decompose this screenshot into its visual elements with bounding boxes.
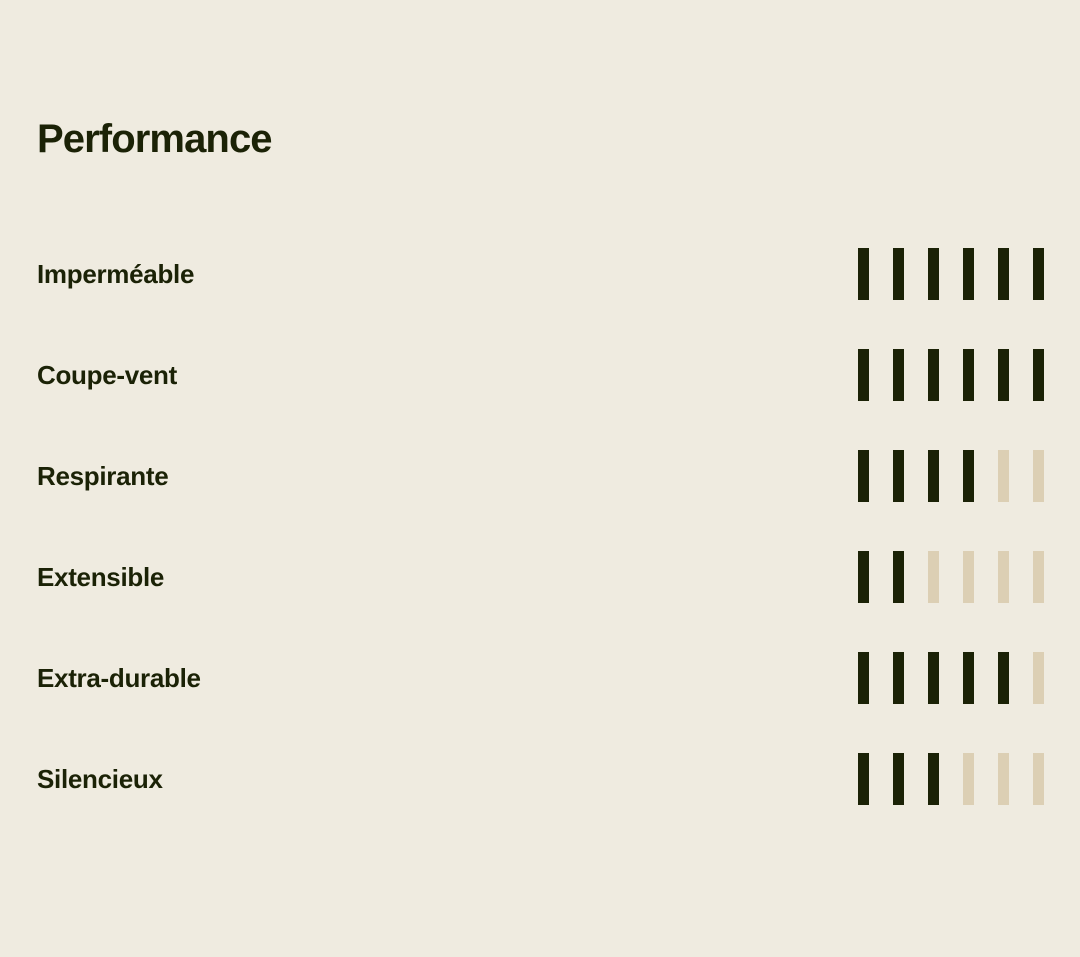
rating-bar-filled xyxy=(928,753,939,805)
rating-bar-filled xyxy=(1033,248,1044,300)
attribute-row: Silencieux xyxy=(37,752,1044,806)
attribute-label: Extra-durable xyxy=(37,665,201,691)
rating-bar-filled xyxy=(893,652,904,704)
attribute-row: Respirante xyxy=(37,449,1044,503)
rating-meter xyxy=(858,449,1044,503)
attribute-label: Coupe-vent xyxy=(37,362,177,388)
attribute-label: Extensible xyxy=(37,564,164,590)
rating-bar-filled xyxy=(858,349,869,401)
rating-bar-filled xyxy=(998,248,1009,300)
attribute-label: Imperméable xyxy=(37,261,194,287)
attribute-row: Extensible xyxy=(37,550,1044,604)
rating-bar-empty xyxy=(963,551,974,603)
rating-meter xyxy=(858,550,1044,604)
attribute-label: Respirante xyxy=(37,463,168,489)
performance-panel: Performance ImperméableCoupe-ventRespira… xyxy=(0,0,1080,957)
rating-bar-filled xyxy=(858,450,869,502)
rating-bar-empty xyxy=(998,753,1009,805)
rating-bar-filled xyxy=(928,349,939,401)
rating-meter xyxy=(858,752,1044,806)
rating-bar-empty xyxy=(1033,450,1044,502)
rating-meter xyxy=(858,348,1044,402)
rating-bar-filled xyxy=(893,349,904,401)
rating-bar-filled xyxy=(858,248,869,300)
attribute-row: Extra-durable xyxy=(37,651,1044,705)
rating-bar-filled xyxy=(858,753,869,805)
rating-bar-filled xyxy=(893,753,904,805)
rating-bar-filled xyxy=(963,652,974,704)
rating-bar-empty xyxy=(963,753,974,805)
rating-bar-filled xyxy=(963,248,974,300)
rating-bar-empty xyxy=(1033,753,1044,805)
page-title: Performance xyxy=(37,119,272,159)
attribute-list: ImperméableCoupe-ventRespiranteExtensibl… xyxy=(37,247,1044,806)
rating-bar-filled xyxy=(858,652,869,704)
rating-bar-empty xyxy=(998,551,1009,603)
rating-bar-filled xyxy=(893,551,904,603)
rating-bar-filled xyxy=(998,652,1009,704)
rating-bar-filled xyxy=(998,349,1009,401)
attribute-label: Silencieux xyxy=(37,766,163,792)
rating-bar-filled xyxy=(893,450,904,502)
rating-bar-empty xyxy=(1033,652,1044,704)
attribute-row: Imperméable xyxy=(37,247,1044,301)
attribute-row: Coupe-vent xyxy=(37,348,1044,402)
rating-bar-filled xyxy=(928,652,939,704)
rating-bar-filled xyxy=(963,450,974,502)
rating-bar-empty xyxy=(1033,551,1044,603)
rating-meter xyxy=(858,651,1044,705)
rating-bar-filled xyxy=(893,248,904,300)
rating-bar-filled xyxy=(963,349,974,401)
rating-bar-empty xyxy=(928,551,939,603)
rating-bar-empty xyxy=(998,450,1009,502)
rating-bar-filled xyxy=(858,551,869,603)
rating-meter xyxy=(858,247,1044,301)
rating-bar-filled xyxy=(928,248,939,300)
rating-bar-filled xyxy=(928,450,939,502)
rating-bar-filled xyxy=(1033,349,1044,401)
